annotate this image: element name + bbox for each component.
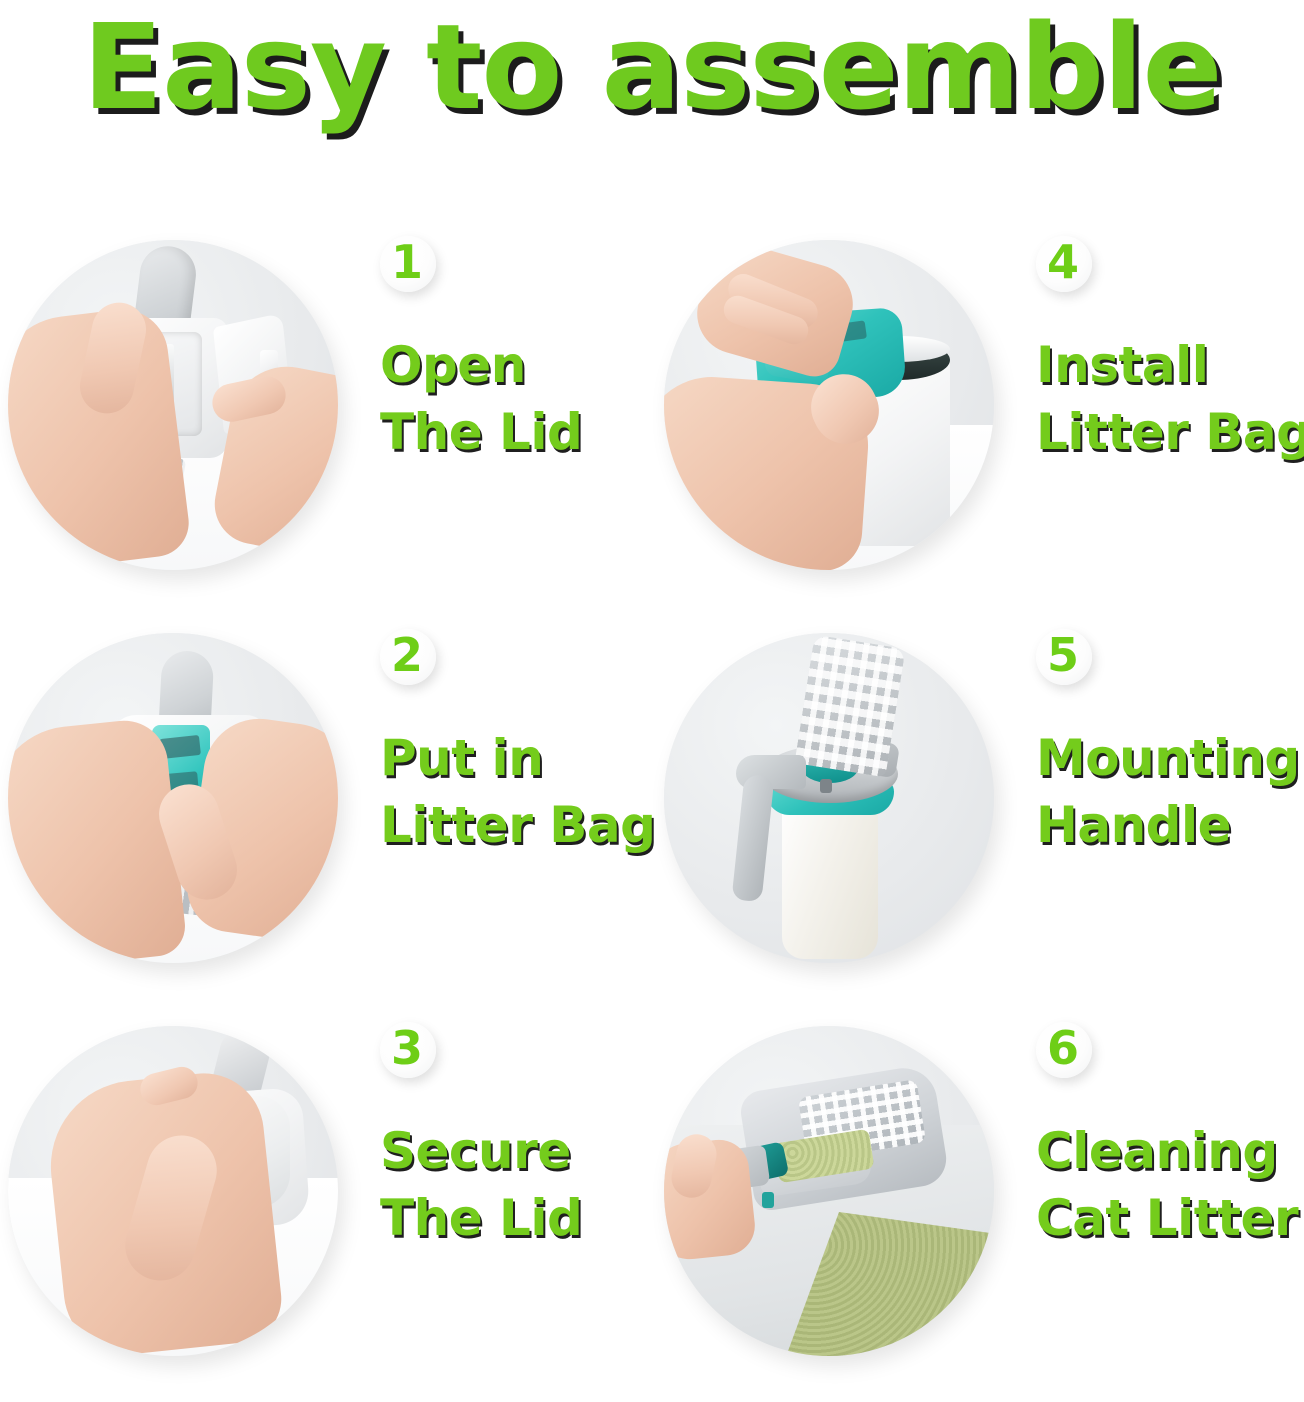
assembly-steps-grid: 1 Open The Lid 4 Install L: [0, 222, 1304, 1402]
step-3-label-line2: The Lid: [380, 1185, 652, 1252]
step-5-number: 5: [1047, 632, 1079, 678]
photo-secure-the-lid: [8, 1026, 338, 1356]
step-5: 5 Mounting Handle: [652, 615, 1304, 1008]
photo-put-in-litter-bag: [8, 633, 338, 963]
step-5-label-line1: Mounting: [1036, 725, 1304, 792]
step-2-label-line2: Litter Bag: [380, 792, 655, 859]
step-5-label-line2: Handle: [1036, 792, 1304, 859]
photo-cleaning-cat-litter: [664, 1026, 994, 1356]
step-3-number: 3: [391, 1025, 423, 1071]
photo-mounting-handle: [664, 633, 994, 963]
step-4-label-line2: Litter Bags: [1036, 399, 1304, 466]
step-6: 6 Cleaning Cat Litter: [652, 1008, 1304, 1401]
bag-clip: [820, 779, 832, 793]
step-5-text: 5 Mounting Handle: [994, 615, 1304, 859]
bag-clip: [762, 1192, 774, 1208]
step-2-text: 2 Put in Litter Bag: [338, 615, 655, 859]
step-4: 4 Install Litter Bags: [652, 222, 1304, 615]
step-6-label-line2: Cat Litter: [1036, 1185, 1304, 1252]
step-3: 3 Secure The Lid: [0, 1008, 652, 1401]
step-5-number-badge: 5: [1036, 629, 1092, 685]
step-6-label-line1: Cleaning: [1036, 1118, 1304, 1185]
step-4-text: 4 Install Litter Bags: [994, 222, 1304, 466]
step-2: 2 Put in Litter Bag: [0, 615, 652, 1008]
page-title: Easy to assemble: [0, 6, 1304, 130]
step-4-number: 4: [1047, 239, 1079, 285]
step-6-number: 6: [1047, 1025, 1079, 1071]
photo-install-litter-bags: [664, 240, 994, 570]
bucket-body: [782, 793, 878, 959]
step-6-text: 6 Cleaning Cat Litter: [994, 1008, 1304, 1252]
step-4-number-badge: 4: [1036, 236, 1092, 292]
step-6-number-badge: 6: [1036, 1022, 1092, 1078]
step-1: 1 Open The Lid: [0, 222, 652, 615]
left-hand: [8, 716, 188, 963]
step-1-number: 1: [391, 239, 423, 285]
step-1-label-line2: The Lid: [380, 399, 652, 466]
step-3-number-badge: 3: [380, 1022, 436, 1078]
step-1-text: 1 Open The Lid: [338, 222, 652, 466]
step-2-label-line1: Put in: [380, 725, 655, 792]
step-3-label-line1: Secure: [380, 1118, 652, 1185]
step-2-number: 2: [391, 632, 423, 678]
step-4-label-line1: Install: [1036, 332, 1304, 399]
step-1-label-line1: Open: [380, 332, 652, 399]
step-1-number-badge: 1: [380, 236, 436, 292]
step-2-number-badge: 2: [380, 629, 436, 685]
step-3-text: 3 Secure The Lid: [338, 1008, 652, 1252]
photo-open-the-lid: [8, 240, 338, 570]
